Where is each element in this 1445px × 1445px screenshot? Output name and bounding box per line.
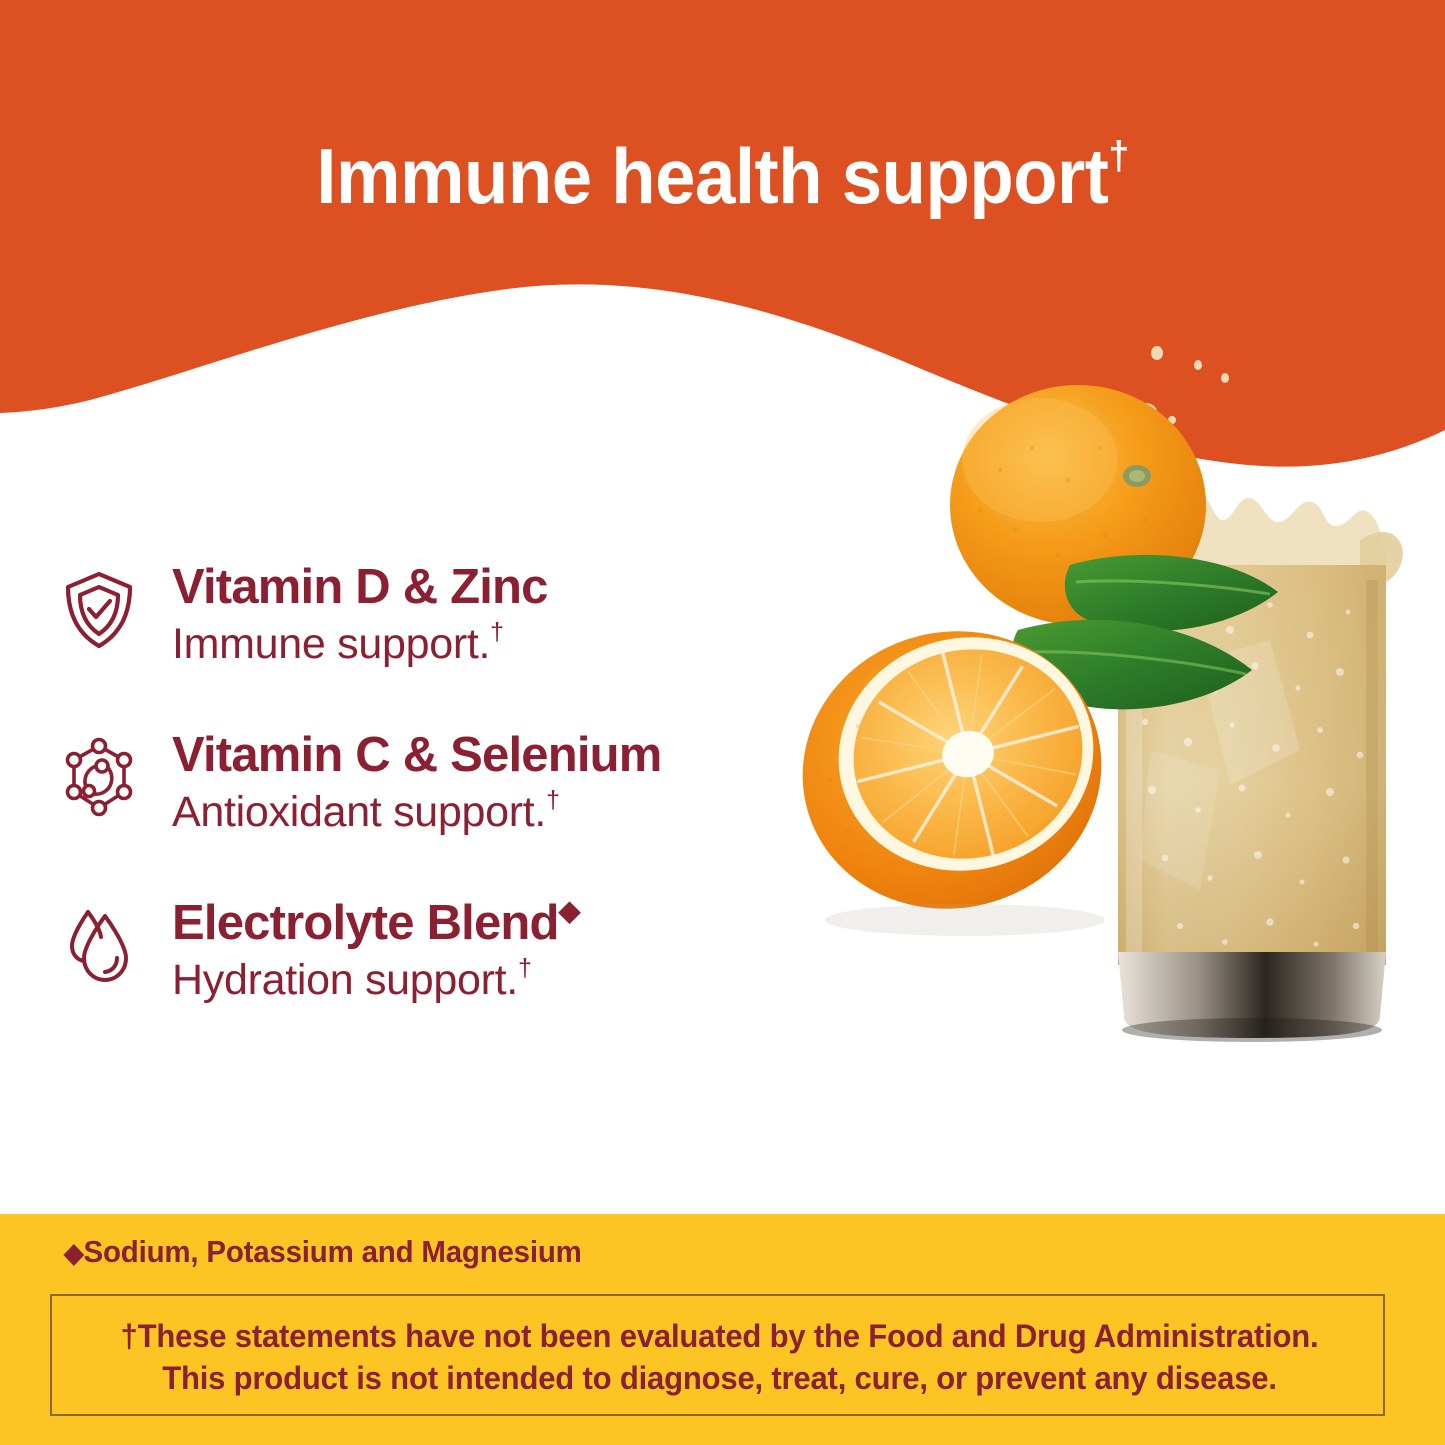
benefit-text-block: Vitamin C & Selenium Antioxidant support… <box>172 728 852 837</box>
benefit-text-block: Electrolyte Blend◆ Hydration support.† <box>172 896 852 1005</box>
benefit-title: Vitamin C & Selenium <box>172 728 852 782</box>
benefit-title: Electrolyte Blend◆ <box>172 896 852 950</box>
headline-dagger: † <box>1109 134 1129 178</box>
page-title: Immune health support† <box>51 136 1395 215</box>
benefit-subtitle: Hydration support.† <box>172 954 852 1005</box>
shield-check-icon <box>60 568 138 652</box>
water-droplet-icon <box>60 904 138 988</box>
ingredient-footnote-text: Sodium, Potassium and Magnesium <box>84 1234 582 1269</box>
benefit-subtitle: Immune support.† <box>172 618 852 669</box>
molecule-cell-icon <box>60 736 138 820</box>
product-photo <box>800 330 1445 1210</box>
disclaimer-box: †These statements have not been evaluate… <box>50 1294 1385 1416</box>
disclaimer-text: †These statements have not been evaluate… <box>72 1315 1367 1399</box>
benefit-subtitle-dagger: † <box>490 618 504 646</box>
benefit-subtitle-dagger: † <box>546 786 560 814</box>
benefit-item-vitamin-c-selenium: Vitamin C & Selenium Antioxidant support… <box>52 728 852 878</box>
benefit-item-electrolyte-blend: Electrolyte Blend◆ Hydration support.† <box>52 896 852 1046</box>
benefit-subtitle-dagger: † <box>518 954 532 982</box>
disclaimer-line-1: †These statements have not been evaluate… <box>72 1315 1367 1357</box>
benefit-title-symbol: ◆ <box>559 895 580 926</box>
headline-text: Immune health support <box>316 132 1108 220</box>
benefit-text-block: Vitamin D & Zinc Immune support.† <box>172 560 852 669</box>
benefit-title: Vitamin D & Zinc <box>172 560 852 614</box>
benefit-item-vitamin-d-zinc: Vitamin D & Zinc Immune support.† <box>52 560 852 710</box>
disclaimer-line-2: This product is not intended to diagnose… <box>72 1357 1367 1399</box>
benefit-subtitle: Antioxidant support.† <box>172 786 852 837</box>
benefits-list: Vitamin D & Zinc Immune support.† <box>52 560 852 1064</box>
ingredient-footnote-symbol: ◆ <box>64 1238 84 1268</box>
footer-disclaimer-band: ◆Sodium, Potassium and Magnesium †These … <box>0 1214 1445 1445</box>
ingredient-footnote: ◆Sodium, Potassium and Magnesium <box>64 1236 582 1267</box>
marketing-image-canvas: Immune health support† <box>0 0 1445 1445</box>
